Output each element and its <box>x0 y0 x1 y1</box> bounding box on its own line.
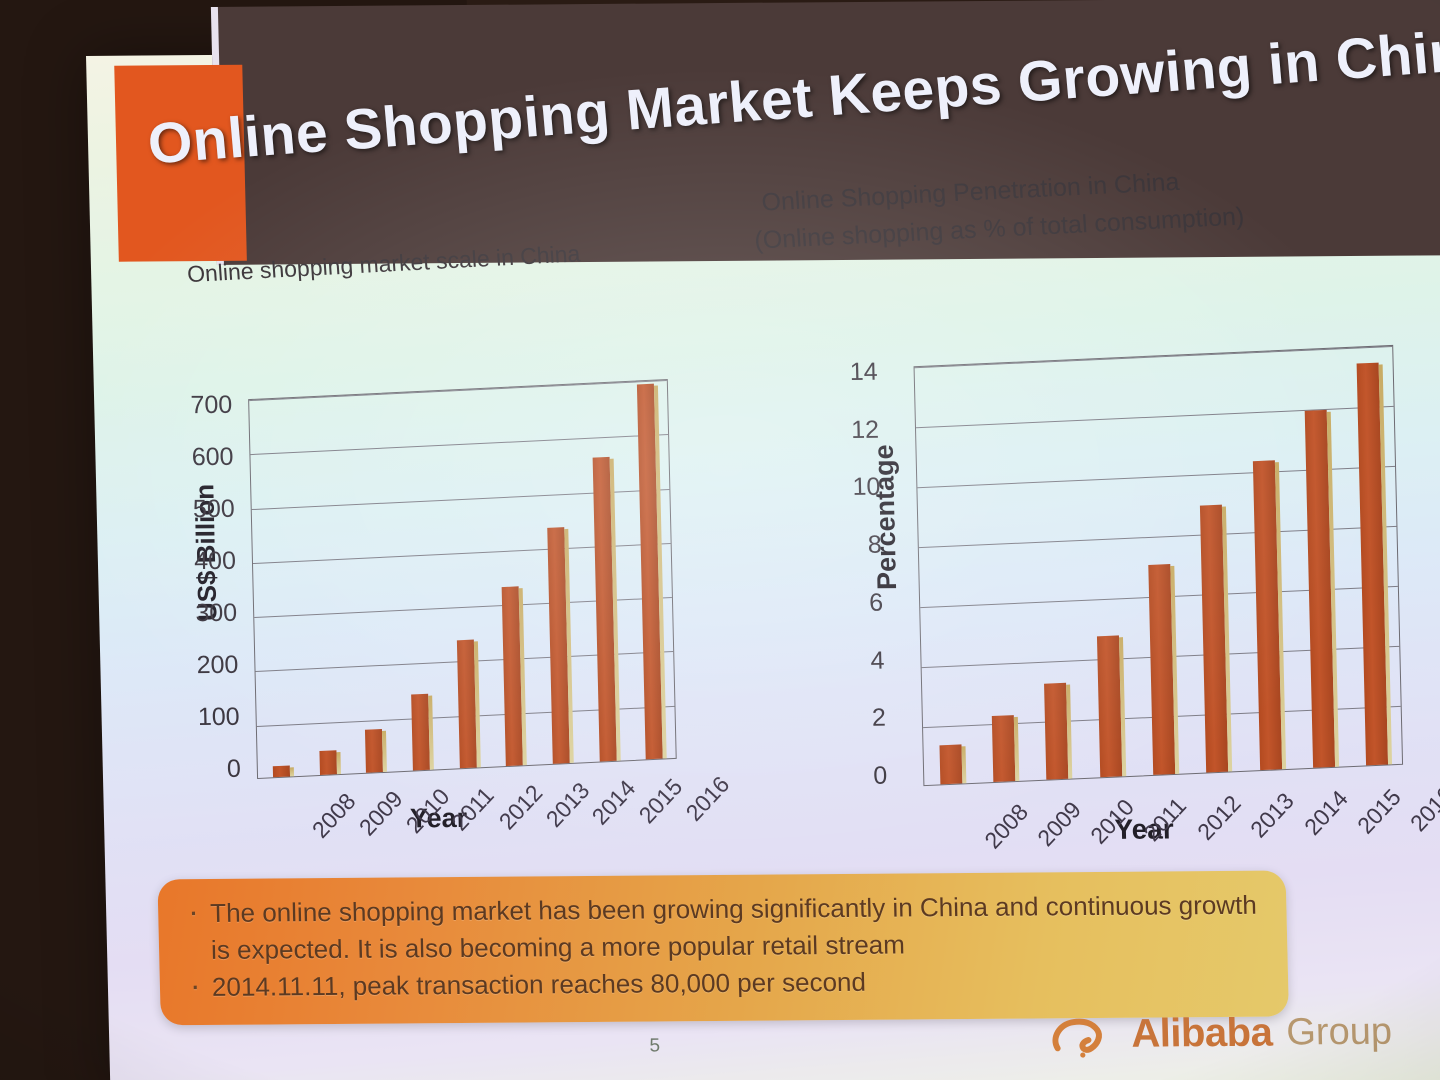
bar <box>939 744 962 784</box>
y-axis-tick: 0 <box>148 755 241 785</box>
bar <box>273 766 290 778</box>
x-axis-tick: 2009 <box>354 786 409 842</box>
x-axis-tick: 2009 <box>1032 796 1087 852</box>
bar <box>365 729 383 773</box>
y-axis-tick: 10 <box>814 473 881 503</box>
chart-market-scale: US$ Billion Year 01002003004005006007002… <box>148 289 781 854</box>
y-axis-tick: 2 <box>819 704 886 734</box>
y-axis-tick: 0 <box>821 762 888 792</box>
bar <box>637 384 663 759</box>
y-axis-tick: 6 <box>817 589 884 619</box>
bar <box>1253 460 1282 770</box>
x-axis-tick: 2008 <box>307 788 362 844</box>
y-axis-tick: 12 <box>813 415 880 445</box>
x-axis-tick: 2015 <box>1352 783 1407 839</box>
x-axis-tick: 2016 <box>680 771 735 827</box>
bar <box>992 715 1016 782</box>
y-axis-tick: 600 <box>141 443 234 473</box>
projected-slide-photo: Online Shopping Market Keeps Growing in … <box>0 0 1440 1080</box>
callout-list: The online shopping market has been grow… <box>157 871 1288 1007</box>
gridline <box>250 434 668 455</box>
y-axis-label: Percentage <box>869 444 903 590</box>
x-axis-tick: 2012 <box>494 779 549 835</box>
y-axis-tick: 4 <box>818 646 885 676</box>
x-axis-tick: 2012 <box>1192 790 1247 846</box>
alibaba-logo: Alibaba Group <box>1049 1006 1393 1061</box>
slide-surface: Online Shopping Market Keeps Growing in … <box>86 45 1440 1080</box>
y-axis-tick: 500 <box>142 495 235 525</box>
plot-area <box>914 345 1404 786</box>
y-axis-tick: 400 <box>144 547 237 577</box>
y-axis-tick: 200 <box>146 651 239 681</box>
bar <box>1044 683 1068 780</box>
bar <box>1148 564 1175 775</box>
logo-brand: Alibaba <box>1131 1010 1273 1056</box>
bar <box>1305 410 1335 768</box>
x-axis-tick: 2008 <box>979 799 1034 855</box>
bar <box>502 586 523 766</box>
alibaba-smile-icon <box>1049 1008 1124 1061</box>
bar <box>547 527 570 764</box>
chart-penetration: Percentage Year 024681012142008200920102… <box>782 231 1437 856</box>
y-axis-tick: 300 <box>145 599 238 629</box>
plot-area <box>248 379 677 779</box>
bar <box>592 457 616 762</box>
list-item: The online shopping market has been grow… <box>184 887 1266 969</box>
x-axis-tick: 2013 <box>540 777 595 833</box>
bar <box>319 750 337 775</box>
bar <box>1200 505 1228 773</box>
y-axis-tick: 700 <box>140 391 233 421</box>
logo-suffix: Group <box>1286 1010 1393 1054</box>
gridline <box>915 346 1393 368</box>
summary-callout: The online shopping market has been grow… <box>157 871 1289 1026</box>
x-axis-tick: 2013 <box>1245 788 1300 844</box>
bar <box>411 694 430 771</box>
y-axis-tick: 100 <box>147 703 240 733</box>
x-axis-tick: 2016 <box>1405 781 1440 837</box>
bar <box>1097 635 1122 777</box>
x-axis-tick: 2015 <box>634 773 689 829</box>
gridline <box>249 380 667 401</box>
page-number: 5 <box>649 1035 660 1057</box>
y-axis-tick: 8 <box>815 531 882 561</box>
list-item: 2014.11.11, peak transaction reaches 80,… <box>186 960 1267 1005</box>
x-axis-tick: 2014 <box>1299 785 1354 841</box>
y-axis-tick: 14 <box>811 358 878 388</box>
bar <box>456 640 476 768</box>
bar <box>1357 363 1388 766</box>
x-axis-tick: 2014 <box>587 775 642 831</box>
